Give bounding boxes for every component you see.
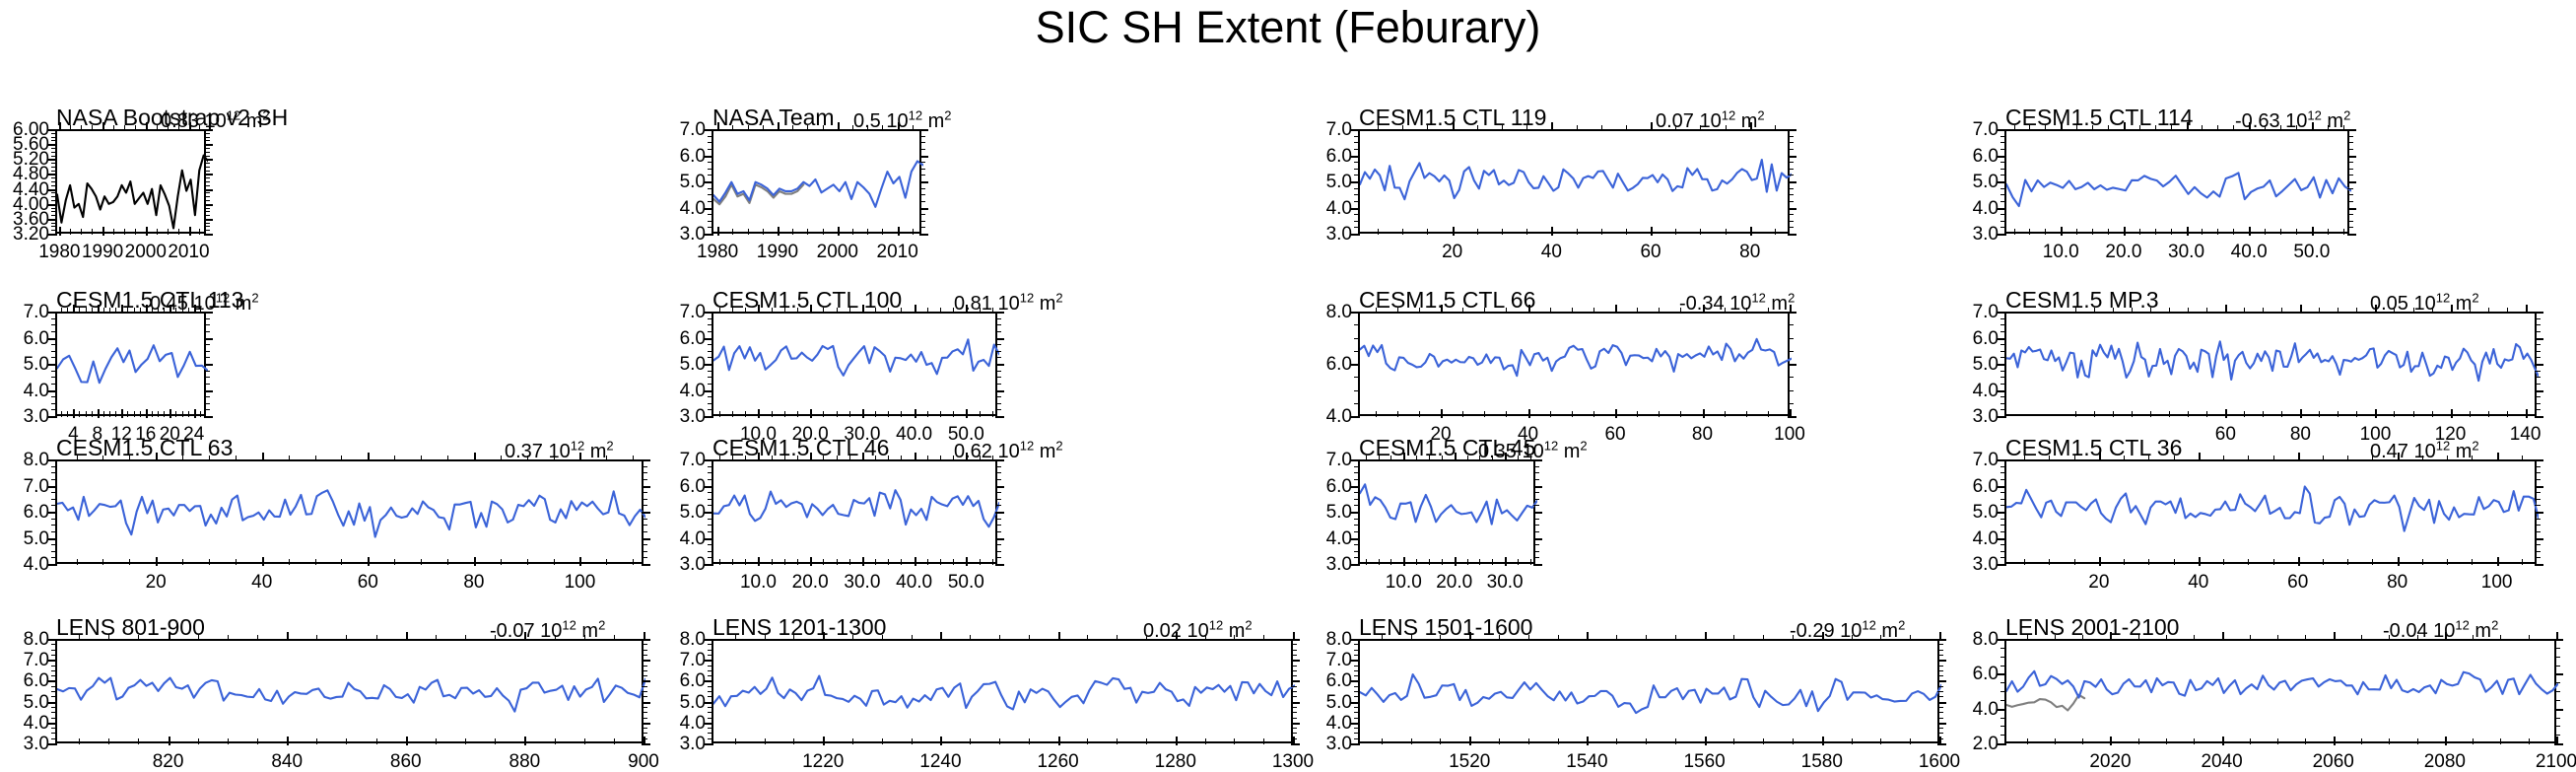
- x-axis-minor-tick-top: [772, 456, 773, 461]
- x-axis-minor-tick: [2389, 738, 2390, 744]
- y-axis-minor-tick: [51, 686, 57, 687]
- y-axis-tick-right: [642, 512, 650, 514]
- x-axis-minor-tick: [2225, 411, 2226, 417]
- x-axis-minor-tick-top: [2300, 308, 2301, 314]
- series-line: [57, 156, 208, 229]
- y-axis-minor-tick: [708, 733, 713, 734]
- x-axis-minor-tick: [164, 411, 165, 417]
- x-axis-tick-top: [644, 632, 645, 641]
- x-axis-minor-tick: [501, 559, 502, 565]
- y-axis-minor-tick-right: [642, 544, 647, 545]
- y-axis-tick-right: [1788, 208, 1796, 210]
- x-axis-tick-label: 60: [2254, 573, 2342, 592]
- x-axis-minor-tick-top: [927, 308, 928, 314]
- x-axis-minor-tick-top: [2529, 635, 2530, 641]
- y-axis-minor-tick-right: [2535, 499, 2541, 500]
- x-axis-minor-tick: [86, 411, 87, 417]
- plot-area: [712, 459, 997, 564]
- y-axis-tick: [1998, 416, 2006, 418]
- y-axis-minor-tick-right: [995, 324, 1001, 325]
- y-axis-tick-right: [204, 189, 213, 191]
- panel-title: CESM1.5 CTL 63: [56, 437, 233, 459]
- x-axis-minor-tick: [2281, 411, 2282, 417]
- y-axis-minor-tick: [708, 169, 713, 170]
- y-axis-tick-label: 7.0: [650, 303, 706, 321]
- x-axis-minor-tick-top: [1416, 456, 1417, 461]
- y-axis-minor-tick-right: [1788, 188, 1794, 189]
- x-axis-minor-tick-top: [1587, 635, 1588, 641]
- x-axis-minor-tick-top: [1572, 308, 1573, 314]
- y-axis-minor-tick: [51, 466, 57, 467]
- y-axis-minor-tick-right: [642, 505, 647, 506]
- x-axis-minor-tick-top: [823, 456, 824, 461]
- x-axis-minor-tick-top: [1429, 456, 1430, 461]
- y-axis-minor-tick-right: [2535, 403, 2541, 404]
- x-axis-minor-tick-top: [152, 308, 153, 314]
- series-canvas: [713, 131, 923, 236]
- x-axis-tick-top: [1790, 305, 1792, 314]
- y-axis-minor-tick-right: [2347, 136, 2353, 137]
- series-line: [2006, 486, 2539, 530]
- x-axis-minor-tick: [2094, 411, 2095, 417]
- x-axis-minor-tick: [1029, 738, 1030, 744]
- y-axis-tick-right: [995, 312, 1004, 314]
- x-axis-minor-tick: [1176, 738, 1177, 744]
- y-axis-tick-label: 4.0: [1943, 199, 1999, 218]
- y-axis-minor-tick: [708, 686, 713, 687]
- y-axis-tick-right: [2535, 364, 2543, 366]
- x-axis-minor-tick-top: [228, 635, 229, 641]
- x-axis-minor-tick: [2422, 559, 2423, 565]
- x-axis-minor-tick: [2394, 411, 2395, 417]
- x-axis-minor-tick: [109, 411, 110, 417]
- series-line: [2006, 173, 2351, 206]
- y-axis-minor-tick-right: [2347, 201, 2353, 202]
- y-axis-minor-tick-right: [2535, 324, 2541, 325]
- x-axis-minor-tick-top: [2045, 125, 2046, 131]
- x-axis-minor-tick-top: [2372, 456, 2373, 461]
- x-axis-minor-tick-top: [555, 635, 556, 641]
- x-axis-minor-tick: [732, 411, 733, 417]
- page-title: SIC SH Extent (Feburary): [0, 2, 2576, 53]
- y-axis-minor-tick-right: [995, 531, 1001, 532]
- y-axis-tick: [1998, 312, 2006, 314]
- x-axis-minor-tick: [763, 229, 764, 235]
- y-axis-minor-tick: [708, 479, 713, 480]
- y-axis-minor-tick: [51, 738, 57, 739]
- y-axis-minor-tick-right: [2535, 384, 2541, 385]
- x-axis-minor-tick-top: [2194, 635, 2195, 641]
- y-axis-tick-label: 6.0: [1943, 147, 1999, 166]
- x-axis-minor-tick: [1793, 738, 1794, 744]
- x-axis-minor-tick: [2082, 738, 2083, 744]
- plot-area: [2004, 459, 2537, 564]
- x-axis-minor-tick: [1403, 559, 1404, 565]
- x-axis-minor-tick-top: [368, 456, 369, 461]
- x-axis-minor-tick: [1703, 411, 1704, 417]
- y-axis-minor-tick-right: [642, 492, 647, 493]
- y-axis-tick-label: 3.0: [1943, 225, 1999, 244]
- x-axis-minor-tick: [810, 559, 811, 565]
- y-axis-minor-tick: [51, 192, 57, 193]
- y-axis-tick-right: [2535, 512, 2543, 514]
- x-axis-minor-tick-top: [1506, 308, 1507, 314]
- y-axis-minor-tick-right: [204, 156, 210, 157]
- x-axis-tick-label: 40: [2154, 573, 2243, 592]
- y-axis-tick: [48, 204, 57, 206]
- x-axis-minor-tick-top: [70, 125, 71, 131]
- plot-area: [1358, 312, 1790, 416]
- y-axis-minor-tick-right: [995, 499, 1001, 500]
- x-axis-minor-tick-top: [1366, 456, 1367, 461]
- y-axis-minor-tick: [1354, 686, 1360, 687]
- x-axis-minor-tick-top: [732, 456, 733, 461]
- y-axis-tick: [1351, 723, 1360, 725]
- y-axis-minor-tick-right: [204, 133, 210, 134]
- x-axis-minor-tick: [1550, 411, 1551, 417]
- panel-title: CESM1.5 CTL 66: [1359, 289, 1535, 312]
- y-axis-minor-tick-right: [995, 384, 1001, 385]
- x-axis-minor-tick-top: [1550, 308, 1551, 314]
- y-axis-minor-tick: [1354, 194, 1360, 195]
- y-axis-minor-tick-right: [995, 331, 1001, 332]
- y-axis-minor-tick: [708, 324, 713, 325]
- x-axis-minor-tick-top: [103, 308, 104, 314]
- x-axis-minor-tick-top: [92, 125, 93, 131]
- y-axis-minor-tick: [1354, 162, 1360, 163]
- x-axis-minor-tick-top: [2280, 125, 2281, 131]
- x-axis-minor-tick: [980, 559, 981, 565]
- y-axis-minor-tick: [1354, 551, 1360, 552]
- x-axis-minor-tick: [2155, 229, 2156, 235]
- x-axis-minor-tick: [140, 411, 141, 417]
- y-axis-tick-right: [1788, 156, 1796, 158]
- y-axis-minor-tick-right: [1788, 175, 1794, 175]
- x-axis-minor-tick: [287, 738, 288, 744]
- y-axis-tick: [705, 364, 713, 366]
- y-axis-minor-tick: [51, 230, 57, 231]
- x-axis-minor-tick-top: [2394, 308, 2395, 314]
- x-axis-minor-tick-top: [1746, 308, 1747, 314]
- y-axis-minor-tick: [51, 351, 57, 352]
- x-axis-minor-tick-top: [2447, 456, 2448, 461]
- x-axis-minor-tick-top: [1234, 635, 1235, 641]
- y-axis-minor-tick: [708, 351, 713, 352]
- x-axis-minor-tick-top: [73, 308, 74, 314]
- x-axis-minor-tick: [2045, 229, 2046, 235]
- y-axis-minor-tick-right: [642, 531, 647, 532]
- x-axis-minor-tick-top: [980, 456, 981, 461]
- y-axis-minor-tick-right: [919, 227, 925, 228]
- x-axis-minor-tick-top: [1419, 308, 1420, 314]
- x-axis-minor-tick-top: [1117, 635, 1118, 641]
- x-axis-minor-tick-top: [1558, 635, 1559, 641]
- stat-unit-exponent: 2: [1788, 290, 1795, 305]
- x-axis-minor-tick: [146, 229, 147, 235]
- x-axis-minor-tick: [1477, 229, 1478, 235]
- x-axis-minor-tick: [554, 559, 555, 565]
- y-axis-minor-tick: [51, 384, 57, 385]
- y-axis-tick-label: 6.0: [1943, 477, 1999, 496]
- x-axis-minor-tick-top: [1442, 456, 1443, 461]
- x-axis-minor-tick: [2488, 411, 2489, 417]
- y-axis-minor-tick: [51, 696, 57, 697]
- x-axis-minor-tick-top: [875, 456, 876, 461]
- x-axis-minor-tick: [875, 559, 876, 565]
- y-axis-minor-tick: [708, 214, 713, 215]
- x-axis-tick-top: [2556, 632, 2558, 641]
- y-axis-tick-right: [204, 174, 213, 175]
- stat-exponent: 12: [1862, 617, 1875, 632]
- y-axis-minor-tick: [51, 396, 57, 397]
- x-axis-minor-tick-top: [2244, 308, 2245, 314]
- y-axis-minor-tick-right: [2535, 557, 2541, 558]
- x-axis-minor-tick-top: [784, 456, 785, 461]
- y-axis-tick: [705, 486, 713, 488]
- x-axis-minor-tick: [992, 559, 993, 565]
- x-axis-minor-tick-top: [1205, 635, 1206, 641]
- x-axis-minor-tick-top: [77, 456, 78, 461]
- x-axis-minor-tick: [2298, 559, 2299, 565]
- x-axis-minor-tick: [194, 411, 195, 417]
- x-axis-minor-tick: [2049, 559, 2050, 565]
- x-axis-minor-tick: [1058, 738, 1059, 744]
- stat-exponent: 12: [2307, 107, 2321, 122]
- x-axis-minor-tick-top: [1403, 456, 1404, 461]
- x-axis-minor-tick: [2199, 559, 2200, 565]
- stat-exponent: 12: [1544, 438, 1558, 453]
- y-axis-minor-tick-right: [1788, 149, 1794, 150]
- x-axis-tick-label: 820: [124, 752, 213, 771]
- x-axis-minor-tick-top: [1467, 456, 1468, 461]
- y-axis-minor-tick: [51, 211, 57, 212]
- y-axis-minor-tick: [708, 318, 713, 319]
- x-axis-minor-tick: [2507, 411, 2508, 417]
- y-axis-tick-label: 7.0: [1297, 451, 1352, 469]
- x-axis-minor-tick: [127, 411, 128, 417]
- y-axis-minor-tick-right: [1533, 531, 1539, 532]
- y-axis-tick-right: [919, 234, 928, 236]
- y-axis-minor-tick-right: [2554, 666, 2560, 667]
- x-axis-minor-tick-top: [778, 125, 779, 131]
- x-axis-minor-tick: [940, 738, 941, 744]
- x-axis-minor-tick: [1429, 559, 1430, 565]
- x-axis-minor-tick: [169, 411, 170, 417]
- y-axis-minor-tick-right: [642, 650, 647, 651]
- panel-stat-value: -0.29 1012 m2: [1790, 621, 1905, 641]
- y-axis-tick-label: 3.0: [650, 407, 706, 426]
- y-axis-tick: [1351, 156, 1360, 158]
- y-axis-tick-right: [995, 512, 1004, 514]
- x-axis-minor-tick-top: [745, 308, 746, 314]
- y-axis-tick-label: 6.0: [650, 671, 706, 690]
- stat-unit: m: [1034, 441, 1055, 462]
- y-axis-minor-tick: [51, 675, 57, 676]
- y-axis-minor-tick-right: [2535, 357, 2541, 358]
- x-axis-minor-tick: [810, 411, 811, 417]
- x-axis-minor-tick-top: [2422, 456, 2423, 461]
- x-axis-minor-tick-top: [1477, 125, 1478, 131]
- y-axis-tick-label: 4.0: [650, 382, 706, 400]
- x-axis-minor-tick-top: [584, 635, 585, 641]
- x-axis-minor-tick: [2375, 411, 2376, 417]
- y-axis-minor-tick: [1354, 142, 1360, 143]
- x-axis-minor-tick: [394, 559, 395, 565]
- y-axis-tick-right: [2535, 486, 2543, 488]
- y-axis-tick-right: [995, 390, 1004, 392]
- x-axis-minor-tick: [2075, 411, 2076, 417]
- x-axis-minor-tick-top: [810, 456, 811, 461]
- x-axis-minor-tick: [1551, 229, 1552, 235]
- x-axis-tick-label: 80: [2353, 573, 2442, 592]
- x-axis-minor-tick-top: [1675, 635, 1676, 641]
- y-axis-minor-tick-right: [1533, 472, 1539, 473]
- x-axis-minor-tick: [1880, 738, 1881, 744]
- x-axis-minor-tick: [2451, 411, 2452, 417]
- x-axis-minor-tick-top: [2312, 125, 2313, 131]
- x-axis-minor-tick: [169, 738, 169, 744]
- y-axis-tick-right: [1533, 564, 1542, 566]
- x-axis-minor-tick-top: [2451, 308, 2452, 314]
- y-axis-minor-tick: [2000, 318, 2006, 319]
- y-axis-minor-tick: [1354, 525, 1360, 526]
- x-axis-minor-tick: [436, 738, 437, 744]
- panel-stat-value: -0.63 1012 m2: [2235, 111, 2350, 131]
- y-axis-tick-label: 7.0: [1943, 303, 1999, 321]
- y-axis-minor-tick-right: [2347, 169, 2353, 170]
- y-axis-tick: [1351, 743, 1360, 745]
- y-axis-minor-tick-right: [204, 344, 210, 345]
- y-axis-tick-right: [1937, 723, 1946, 725]
- x-axis-minor-tick: [838, 229, 839, 235]
- y-axis-tick-right: [2554, 673, 2563, 675]
- x-axis-minor-tick-top: [406, 635, 407, 641]
- y-axis-tick-label: 4.0: [1943, 700, 1999, 719]
- x-axis-minor-tick: [2169, 411, 2170, 417]
- x-axis-minor-tick: [79, 411, 80, 417]
- y-axis-tick-right: [204, 204, 213, 206]
- y-axis-minor-tick: [708, 331, 713, 332]
- x-axis-minor-tick-top: [1705, 635, 1706, 641]
- x-axis-minor-tick: [882, 738, 883, 744]
- panel-stat-value: -0.04 1012 m2: [2383, 621, 2498, 641]
- x-axis-minor-tick-top: [316, 635, 317, 641]
- series-canvas: [1360, 641, 1941, 745]
- x-axis-minor-tick-top: [735, 635, 736, 641]
- x-axis-minor-tick: [1626, 229, 1627, 235]
- y-axis-tick-label: 7.0: [650, 120, 706, 139]
- y-axis-minor-tick: [1354, 377, 1360, 378]
- y-axis-tick: [1998, 639, 2006, 641]
- x-axis-minor-tick-top: [2507, 308, 2508, 314]
- x-axis-tick-label: 2020: [2066, 752, 2154, 771]
- x-axis-minor-tick: [2470, 411, 2471, 417]
- y-axis-minor-tick: [51, 650, 57, 651]
- x-axis-minor-tick: [2473, 738, 2474, 744]
- y-axis-minor-tick: [2000, 344, 2006, 345]
- x-axis-minor-tick-top: [606, 456, 607, 461]
- x-axis-minor-tick: [1455, 559, 1456, 565]
- x-axis-minor-tick-top: [1528, 635, 1529, 641]
- y-axis-minor-tick-right: [2535, 505, 2541, 506]
- y-axis-minor-tick: [2000, 666, 2006, 667]
- y-axis-minor-tick: [51, 167, 57, 168]
- x-axis-minor-tick: [1530, 559, 1531, 565]
- y-axis-tick-right: [1937, 660, 1946, 662]
- series-line: [713, 490, 999, 526]
- y-axis-minor-tick: [2000, 201, 2006, 202]
- x-axis-minor-tick: [2061, 229, 2062, 235]
- x-axis-minor-tick-top: [953, 456, 954, 461]
- x-axis-minor-tick-top: [2472, 456, 2473, 461]
- y-axis-minor-tick-right: [995, 409, 1001, 410]
- x-axis-minor-tick-top: [2249, 125, 2250, 131]
- y-axis-minor-tick: [2000, 718, 2006, 719]
- y-axis-minor-tick-right: [642, 686, 647, 687]
- y-axis-tick-right: [642, 660, 650, 662]
- y-axis-tick: [705, 156, 713, 158]
- x-axis-minor-tick: [1637, 411, 1638, 417]
- x-axis-minor-tick-top: [1726, 125, 1727, 131]
- y-axis-minor-tick: [2000, 479, 2006, 480]
- series-line-secondary: [713, 184, 803, 204]
- y-axis-minor-tick-right: [1788, 162, 1794, 163]
- x-axis-minor-tick: [59, 229, 60, 235]
- y-axis-tick-label: 6.0: [1297, 147, 1352, 166]
- y-axis-minor-tick-right: [642, 499, 647, 500]
- x-axis-minor-tick: [953, 411, 954, 417]
- x-axis-minor-tick-top: [194, 308, 195, 314]
- x-axis-minor-tick: [888, 559, 889, 565]
- y-axis-minor-tick: [708, 194, 713, 195]
- x-axis-minor-tick-top: [758, 456, 759, 461]
- y-axis-minor-tick: [1354, 531, 1360, 532]
- x-axis-minor-tick-top: [849, 456, 850, 461]
- y-axis-minor-tick: [708, 505, 713, 506]
- y-axis-minor-tick: [1354, 728, 1360, 729]
- y-axis-tick-right: [1788, 234, 1796, 236]
- x-axis-minor-tick-top: [1750, 125, 1751, 131]
- y-axis-minor-tick: [51, 215, 57, 216]
- y-axis-minor-tick-right: [204, 137, 210, 138]
- series-line: [57, 345, 208, 383]
- series-canvas: [2006, 131, 2351, 236]
- y-axis-tick-right: [919, 129, 928, 131]
- plot-area: [55, 312, 206, 416]
- panel-title: LENS 2001-2100: [2005, 616, 2179, 639]
- y-axis-minor-tick: [51, 492, 57, 493]
- y-axis-tick-label: 4.0: [0, 555, 49, 574]
- x-axis-minor-tick: [745, 411, 746, 417]
- y-axis-minor-tick-right: [2347, 188, 2353, 189]
- panel-stat-value: 0.62 1012 m2: [954, 442, 1063, 461]
- x-axis-minor-tick: [262, 559, 263, 565]
- y-axis-minor-tick: [1354, 655, 1360, 656]
- y-axis-minor-tick: [708, 344, 713, 345]
- y-axis-minor-tick: [708, 670, 713, 671]
- y-axis-minor-tick: [2000, 551, 2006, 552]
- y-axis-tick-right: [642, 702, 650, 704]
- y-axis-tick-right: [2535, 312, 2543, 314]
- x-axis-minor-tick: [368, 559, 369, 565]
- x-axis-minor-tick-top: [1479, 456, 1480, 461]
- x-axis-minor-tick-top: [2281, 308, 2282, 314]
- y-axis-tick: [705, 702, 713, 704]
- y-axis-tick-label: 6.0: [650, 147, 706, 166]
- y-axis-minor-tick: [51, 718, 57, 719]
- x-axis-minor-tick-top: [140, 308, 141, 314]
- x-axis-minor-tick: [1763, 738, 1764, 744]
